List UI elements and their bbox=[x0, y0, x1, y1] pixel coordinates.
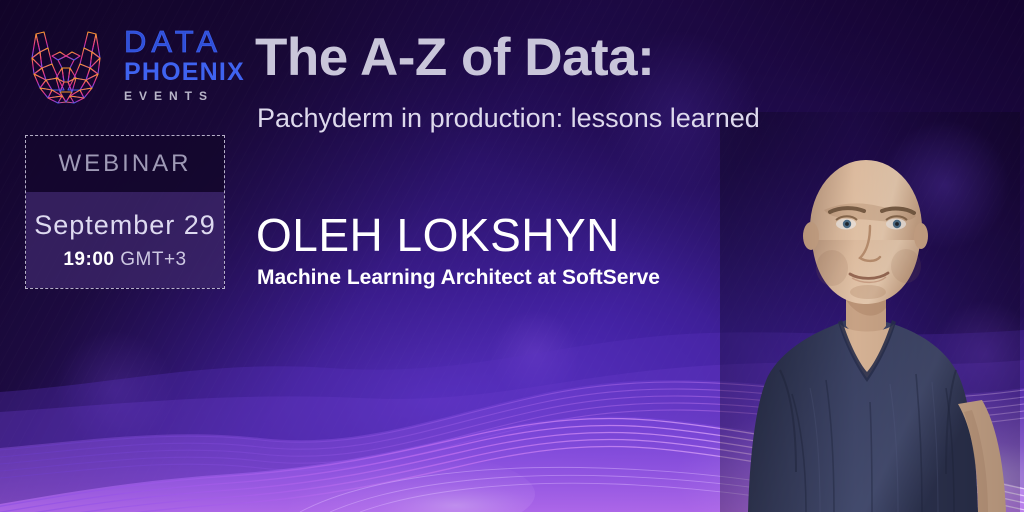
logo-text-data: DATA bbox=[124, 26, 245, 57]
logo-text-phoenix: PHOENIX bbox=[124, 60, 245, 85]
webinar-schedule: September 29 19:00 GMT+3 bbox=[26, 192, 224, 288]
speaker-name: OLEH LOKSHYN bbox=[256, 208, 620, 262]
webinar-date: September 29 bbox=[34, 210, 216, 241]
webinar-info-box: WEBINAR September 29 19:00 GMT+3 bbox=[25, 135, 225, 289]
webinar-time-value: 19:00 bbox=[63, 249, 114, 270]
logo-wordmark: DATA PHOENIX EVENTS bbox=[124, 22, 245, 102]
event-subtitle: Pachyderm in production: lessons learned bbox=[257, 103, 760, 134]
data-phoenix-logo: DATA PHOENIX EVENTS bbox=[18, 18, 245, 106]
webinar-timezone: GMT+3 bbox=[120, 249, 186, 270]
logo-text-events: EVENTS bbox=[124, 90, 245, 102]
phoenix-wireframe-icon bbox=[18, 18, 114, 106]
speaker-role: Machine Learning Architect at SoftServe bbox=[257, 266, 660, 290]
webinar-label: WEBINAR bbox=[26, 136, 224, 192]
webinar-banner: DATA PHOENIX EVENTS WEBINAR September 29… bbox=[0, 0, 1024, 512]
event-title: The A-Z of Data: bbox=[255, 27, 654, 88]
webinar-time: 19:00 GMT+3 bbox=[63, 249, 186, 271]
speaker-portrait bbox=[720, 112, 1020, 512]
